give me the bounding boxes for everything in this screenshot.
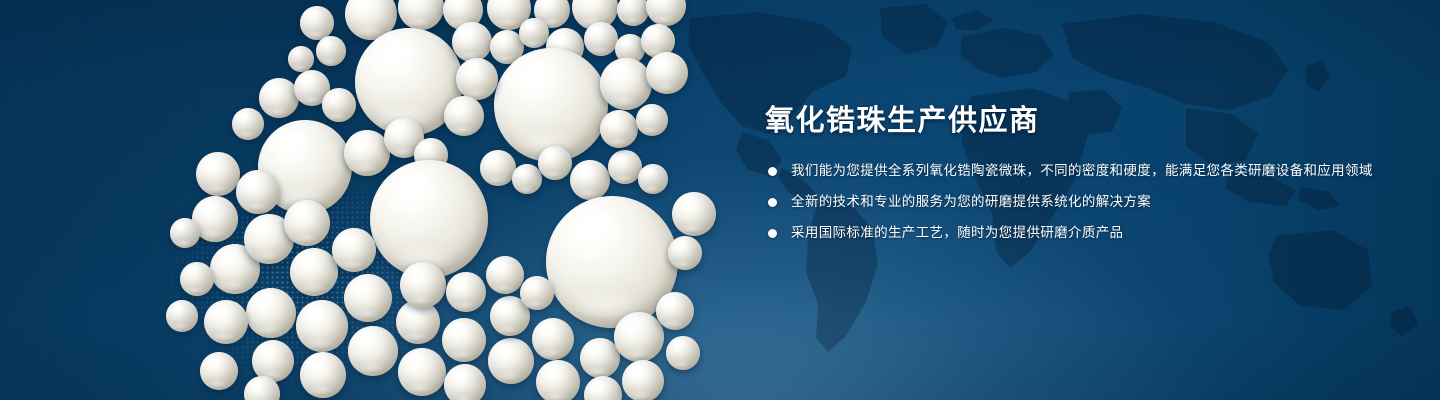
list-item: 全新的技术和专业的服务为您的研磨提供系统化的解决方案 bbox=[765, 191, 1405, 213]
list-item-label: 采用国际标准的生产工艺，随时为您提供研磨介质产品 bbox=[791, 222, 1405, 244]
zirconia-beads-image bbox=[0, 0, 760, 400]
feature-list: 我们能为您提供全系列氧化锆陶瓷微珠，不同的密度和硬度，能满足您各类研磨设备和应用… bbox=[765, 160, 1405, 244]
bullet-dot-icon bbox=[768, 198, 777, 207]
list-item: 我们能为您提供全系列氧化锆陶瓷微珠，不同的密度和硬度，能满足您各类研磨设备和应用… bbox=[765, 160, 1405, 182]
banner-copy: 氧化锆珠生产供应商 我们能为您提供全系列氧化锆陶瓷微珠，不同的密度和硬度，能满足… bbox=[765, 104, 1405, 244]
bullet-dot-icon bbox=[768, 229, 777, 238]
list-item: 采用国际标准的生产工艺，随时为您提供研磨介质产品 bbox=[765, 222, 1405, 244]
list-item-label: 我们能为您提供全系列氧化锆陶瓷微珠，不同的密度和硬度，能满足您各类研磨设备和应用… bbox=[791, 160, 1405, 182]
bullet-dot-icon bbox=[768, 167, 777, 176]
hero-banner: 氧化锆珠生产供应商 我们能为您提供全系列氧化锆陶瓷微珠，不同的密度和硬度，能满足… bbox=[0, 0, 1440, 400]
page-title: 氧化锆珠生产供应商 bbox=[765, 104, 1405, 136]
list-item-label: 全新的技术和专业的服务为您的研磨提供系统化的解决方案 bbox=[791, 191, 1405, 213]
